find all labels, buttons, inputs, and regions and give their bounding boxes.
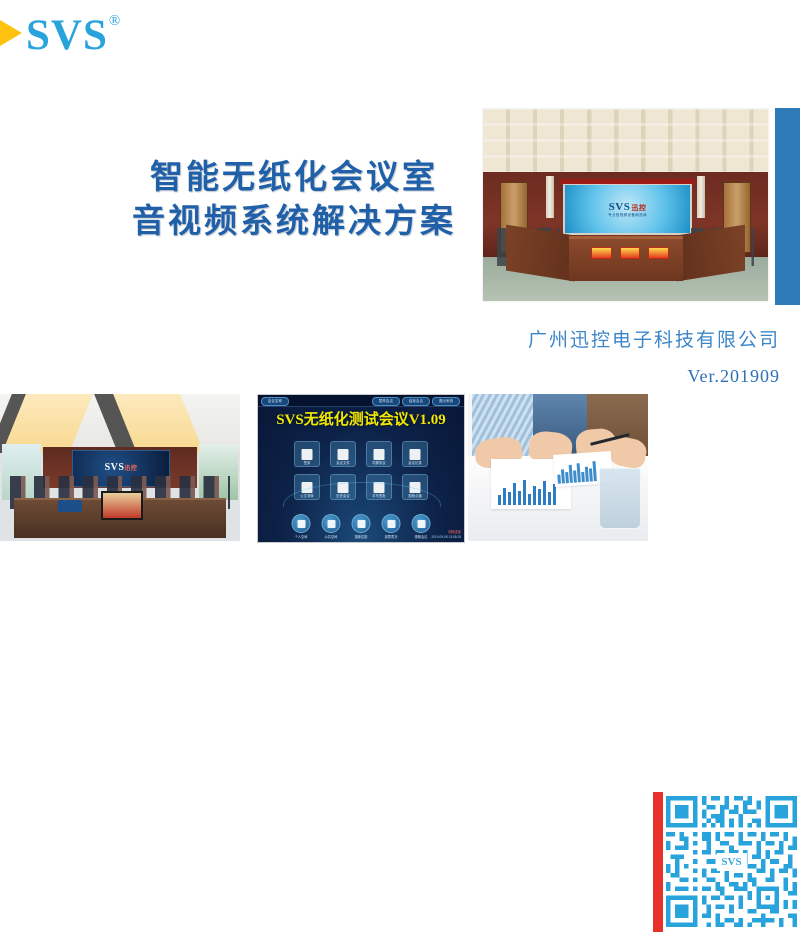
laptop-screen	[101, 491, 143, 520]
dock-item-label: 个人空间	[287, 534, 316, 539]
dock-item-label: 摄像控制	[347, 534, 376, 539]
app-dock: 个人空间 公共空间 摄像控制 投票表决 视频会议	[292, 514, 431, 533]
company-info: 广州迅控电子科技有限公司 Ver.201909	[528, 328, 780, 387]
red-banner	[560, 179, 695, 184]
bottom-image-strip: SVS迅控 会议名称 暂停会议 结束会议 退出系统 SVS无纸化测试会议V1.0…	[0, 394, 800, 541]
screen-brand-text: SVS迅控	[73, 462, 169, 473]
brand-logo: SVS ®	[0, 10, 119, 56]
dock-item-voting[interactable]: 投票表决	[382, 514, 401, 533]
qr-center-brand-label: SVS	[716, 853, 746, 871]
dock-item-label: 公共空间	[317, 534, 346, 539]
app-topbar-button[interactable]: 退出系统	[432, 397, 460, 406]
app-tile-label: 会议文件	[331, 460, 355, 465]
version-label: Ver.201909	[528, 366, 780, 387]
settings-icon	[357, 520, 365, 528]
dock-item-video-conference[interactable]: 视频会议	[412, 514, 431, 533]
page-title: 智能无纸化会议室 音视频系统解决方案	[104, 155, 484, 243]
app-tile-meeting-notes[interactable]: 会议记录	[402, 441, 428, 467]
water-glass	[599, 468, 641, 529]
microphone-unit	[58, 500, 82, 512]
company-name: 广州迅控电子科技有限公司	[528, 328, 780, 354]
led-display-screen: SVS迅控 专业音视频设备制造商	[563, 183, 692, 235]
document-folder	[620, 247, 641, 259]
app-tile-label: 签到	[295, 460, 319, 465]
message-icon	[327, 520, 335, 528]
app-status-time: 2019-09-08 13:08:28	[431, 535, 461, 540]
document-upload-icon	[338, 449, 349, 460]
wall-panel-left	[546, 176, 555, 218]
wall-panel-right	[697, 176, 706, 218]
app-tile-meeting-files[interactable]: 会议文件	[330, 441, 356, 467]
screen-icon	[417, 520, 425, 528]
page-title-line-1: 智能无纸化会议室	[104, 155, 484, 199]
app-status-bar: 网络连接 2019-09-08 13:08:28	[431, 530, 461, 540]
app-topbar-button[interactable]: 暂停会议	[372, 397, 400, 406]
dock-item-personal-space[interactable]: 个人空间	[292, 514, 311, 533]
document-folder	[591, 247, 612, 259]
svs-qr-code[interactable]: SVS	[666, 793, 797, 930]
screen-share-icon	[374, 449, 385, 460]
page-title-line-2: 音视频系统解决方案	[104, 199, 484, 243]
strip-photo-team-charts	[468, 394, 648, 541]
app-tile-label: 会议记录	[403, 460, 427, 465]
app-tile-signin[interactable]: 签到	[294, 441, 320, 467]
qr-code-block: SVS	[663, 788, 800, 935]
hero-conference-room-photo: SVS迅控 专业音视频设备制造商	[483, 109, 768, 301]
strip-photo-conference-attendees: SVS迅控	[0, 394, 240, 541]
dock-item-camera-control[interactable]: 摄像控制	[352, 514, 371, 533]
clipboard-icon	[302, 449, 313, 460]
document-folder	[648, 247, 669, 259]
app-topbar-button[interactable]: 结束会议	[402, 397, 430, 406]
share-icon	[387, 520, 395, 528]
app-tile-screen-share[interactable]: 同屏协议	[366, 441, 392, 467]
app-top-bar: 会议名称 暂停会议 结束会议 退出系统	[258, 395, 464, 407]
dock-item-public-space[interactable]: 公共空间	[322, 514, 341, 533]
play-triangle-icon	[0, 20, 22, 46]
app-topbar-button[interactable]: 会议名称	[261, 397, 289, 406]
note-edit-icon	[410, 449, 421, 460]
strip-screenshot-paperless-app: 会议名称 暂停会议 结束会议 退出系统 SVS无纸化测试会议V1.09 签到 会…	[257, 394, 465, 543]
accent-bar-blue	[775, 108, 800, 305]
app-tile-label: 同屏协议	[367, 460, 391, 465]
ceiling	[483, 109, 768, 174]
dock-item-label: 投票表决	[377, 534, 406, 539]
screen-subtitle-text: 专业音视频设备制造商	[565, 213, 690, 218]
registered-trademark-icon: ®	[109, 13, 120, 30]
screen-brand-text: SVS迅控	[565, 201, 690, 213]
app-title: SVS无纸化测试会议V1.09	[258, 408, 464, 429]
vote-icon	[297, 520, 305, 528]
brand-name: SVS	[26, 14, 108, 57]
